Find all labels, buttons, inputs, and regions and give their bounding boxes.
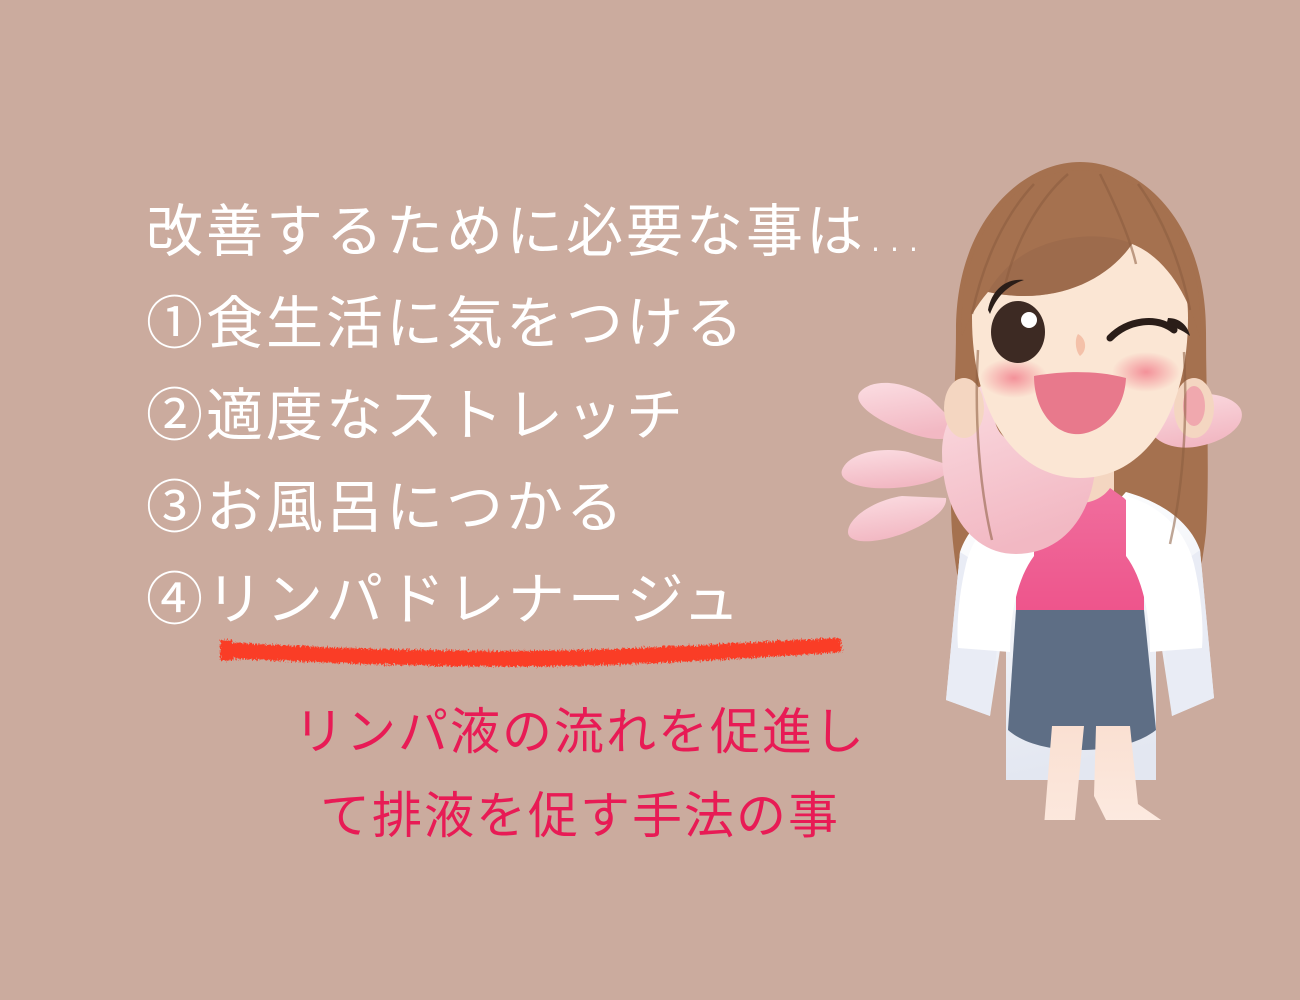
poster-canvas: 改善するために必要な事は… ①食生活に気をつける ②適度なストレッチ ③お風呂に… bbox=[0, 0, 1300, 1000]
headline-text-block: 改善するために必要な事は… ①食生活に気をつける ②適度なストレッチ ③お風呂に… bbox=[146, 186, 906, 646]
headline-line-1: 改善するために必要な事は… bbox=[146, 186, 906, 278]
legs bbox=[1034, 726, 1190, 820]
headline-line-3: ②適度なストレッチ bbox=[146, 370, 906, 462]
caption-text-block: リンパ液の流れを促進し て排液を促す手法の事 bbox=[180, 690, 980, 858]
headline-line-2: ①食生活に気をつける bbox=[146, 278, 906, 370]
caption-line-2: て排液を促す手法の事 bbox=[180, 774, 980, 858]
caption-line-1: リンパ液の流れを促進し bbox=[180, 690, 980, 774]
headline-line-4: ③お風呂につかる bbox=[146, 462, 906, 554]
red-marker-underline bbox=[210, 628, 850, 670]
